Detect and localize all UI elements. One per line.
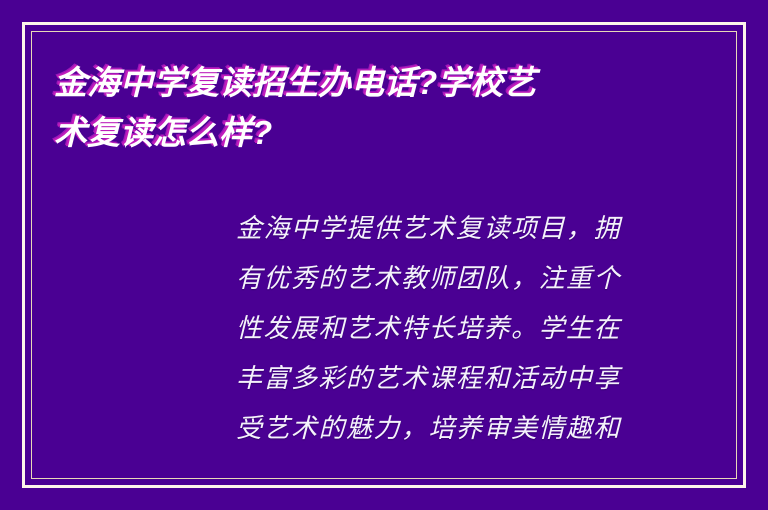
body-paragraph-line-5: 受艺术的魅力，培养审美情趣和 — [236, 404, 656, 454]
page-title: 金海中学复读招生办电话?学校艺 术复读怎么样? — [54, 58, 654, 158]
body-paragraph-line-2: 有优秀的艺术教师团队，注重个 — [236, 254, 656, 304]
page-title-line-1: 金海中学复读招生办电话?学校艺 — [54, 58, 654, 108]
page-title-line-2: 术复读怎么样? — [54, 108, 654, 158]
body-paragraph-line-4: 丰富多彩的艺术课程和活动中享 — [236, 354, 656, 404]
body-paragraph-line-1: 金海中学提供艺术复读项目，拥 — [236, 204, 656, 254]
body-paragraph: 金海中学提供艺术复读项目，拥 有优秀的艺术教师团队，注重个 性发展和艺术特长培养… — [236, 204, 656, 454]
poster-canvas: 金海中学复读招生办电话?学校艺 术复读怎么样? 金海中学提供艺术复读项目，拥 有… — [0, 0, 768, 510]
body-paragraph-line-3: 性发展和艺术特长培养。学生在 — [236, 304, 656, 354]
